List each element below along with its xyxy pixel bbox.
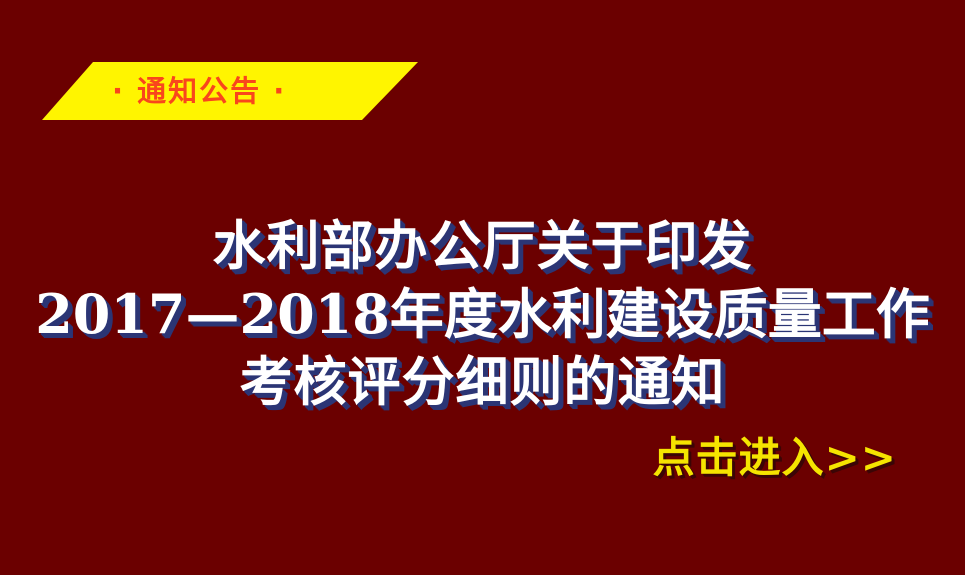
- section-banner-label: · 通知公告 ·: [0, 62, 460, 120]
- page-title-line-3: 考核评分细则的通知: [0, 348, 965, 416]
- cta-container: 点击进入>>: [0, 432, 965, 484]
- notice-poster: · 通知公告 · 水利部办公厅关于印发 2017—2018年度水利建设质量工作 …: [0, 0, 965, 575]
- page-title: 水利部办公厅关于印发 2017—2018年度水利建设质量工作 考核评分细则的通知: [0, 212, 965, 416]
- page-title-line-2: 2017—2018年度水利建设质量工作: [0, 280, 965, 348]
- page-title-line-1: 水利部办公厅关于印发: [0, 212, 965, 280]
- section-banner: · 通知公告 ·: [0, 62, 460, 120]
- enter-link[interactable]: 点击进入>>: [653, 432, 897, 484]
